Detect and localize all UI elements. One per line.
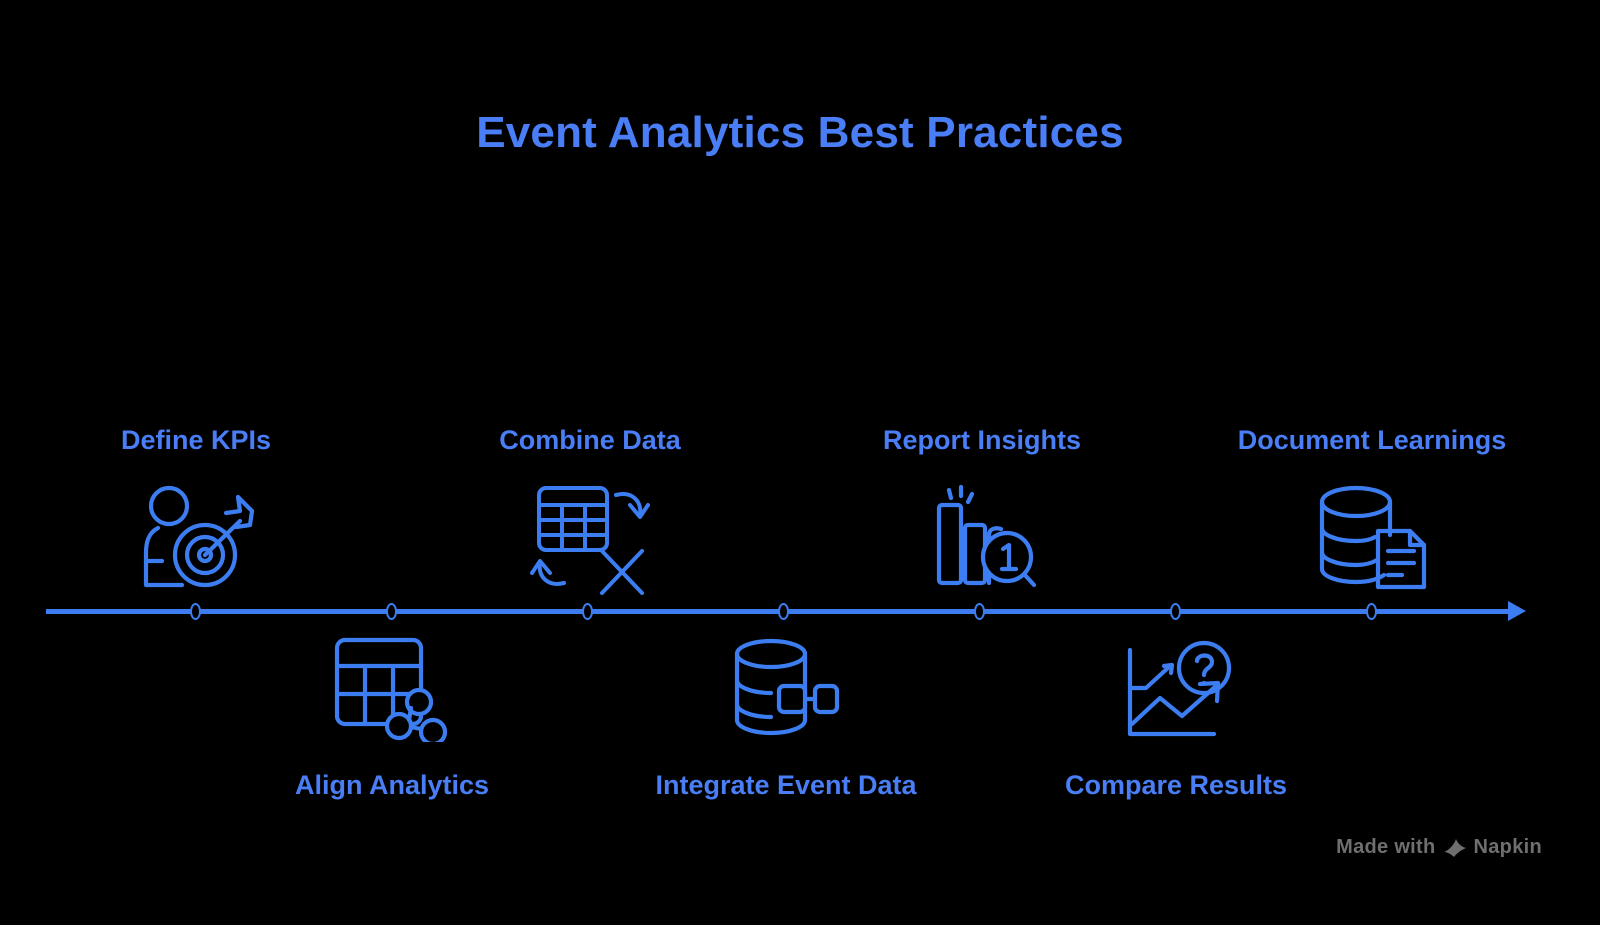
database-document-icon xyxy=(1316,483,1428,591)
timeline-dot[interactable] xyxy=(386,603,397,620)
bar-chart-magnifier-icon xyxy=(927,483,1037,591)
timeline-dot[interactable] xyxy=(778,603,789,620)
page-title: Event Analytics Best Practices xyxy=(0,108,1600,158)
timeline-dot[interactable] xyxy=(582,603,593,620)
line-chart-question-icon xyxy=(1120,636,1232,742)
napkin-logo-icon xyxy=(1443,838,1467,858)
timeline-dot[interactable] xyxy=(974,603,985,620)
person-target-arrow-icon xyxy=(136,483,256,593)
database-nodes-icon xyxy=(731,636,841,740)
step-label-combine-data: Combine Data xyxy=(499,425,681,456)
timeline-dot[interactable] xyxy=(190,603,201,620)
watermark: Made with Napkin xyxy=(1336,836,1542,859)
watermark-prefix: Made with xyxy=(1336,836,1435,859)
diagram-canvas: Event Analytics Best Practices Define KP… xyxy=(0,0,1600,925)
timeline-dot[interactable] xyxy=(1170,603,1181,620)
timeline-arrow-icon xyxy=(1508,601,1526,621)
table-sync-excel-icon xyxy=(530,483,650,595)
step-label-define-kpis: Define KPIs xyxy=(121,425,271,456)
step-label-document-learnings: Document Learnings xyxy=(1238,425,1507,456)
step-label-compare-results: Compare Results xyxy=(1065,770,1287,801)
watermark-brand: Napkin xyxy=(1474,836,1542,859)
table-share-nodes-icon xyxy=(333,636,451,742)
step-label-integrate-event-data: Integrate Event Data xyxy=(655,770,916,801)
step-label-report-insights: Report Insights xyxy=(883,425,1081,456)
timeline-dot[interactable] xyxy=(1366,603,1377,620)
step-label-align-analytics: Align Analytics xyxy=(295,770,489,801)
